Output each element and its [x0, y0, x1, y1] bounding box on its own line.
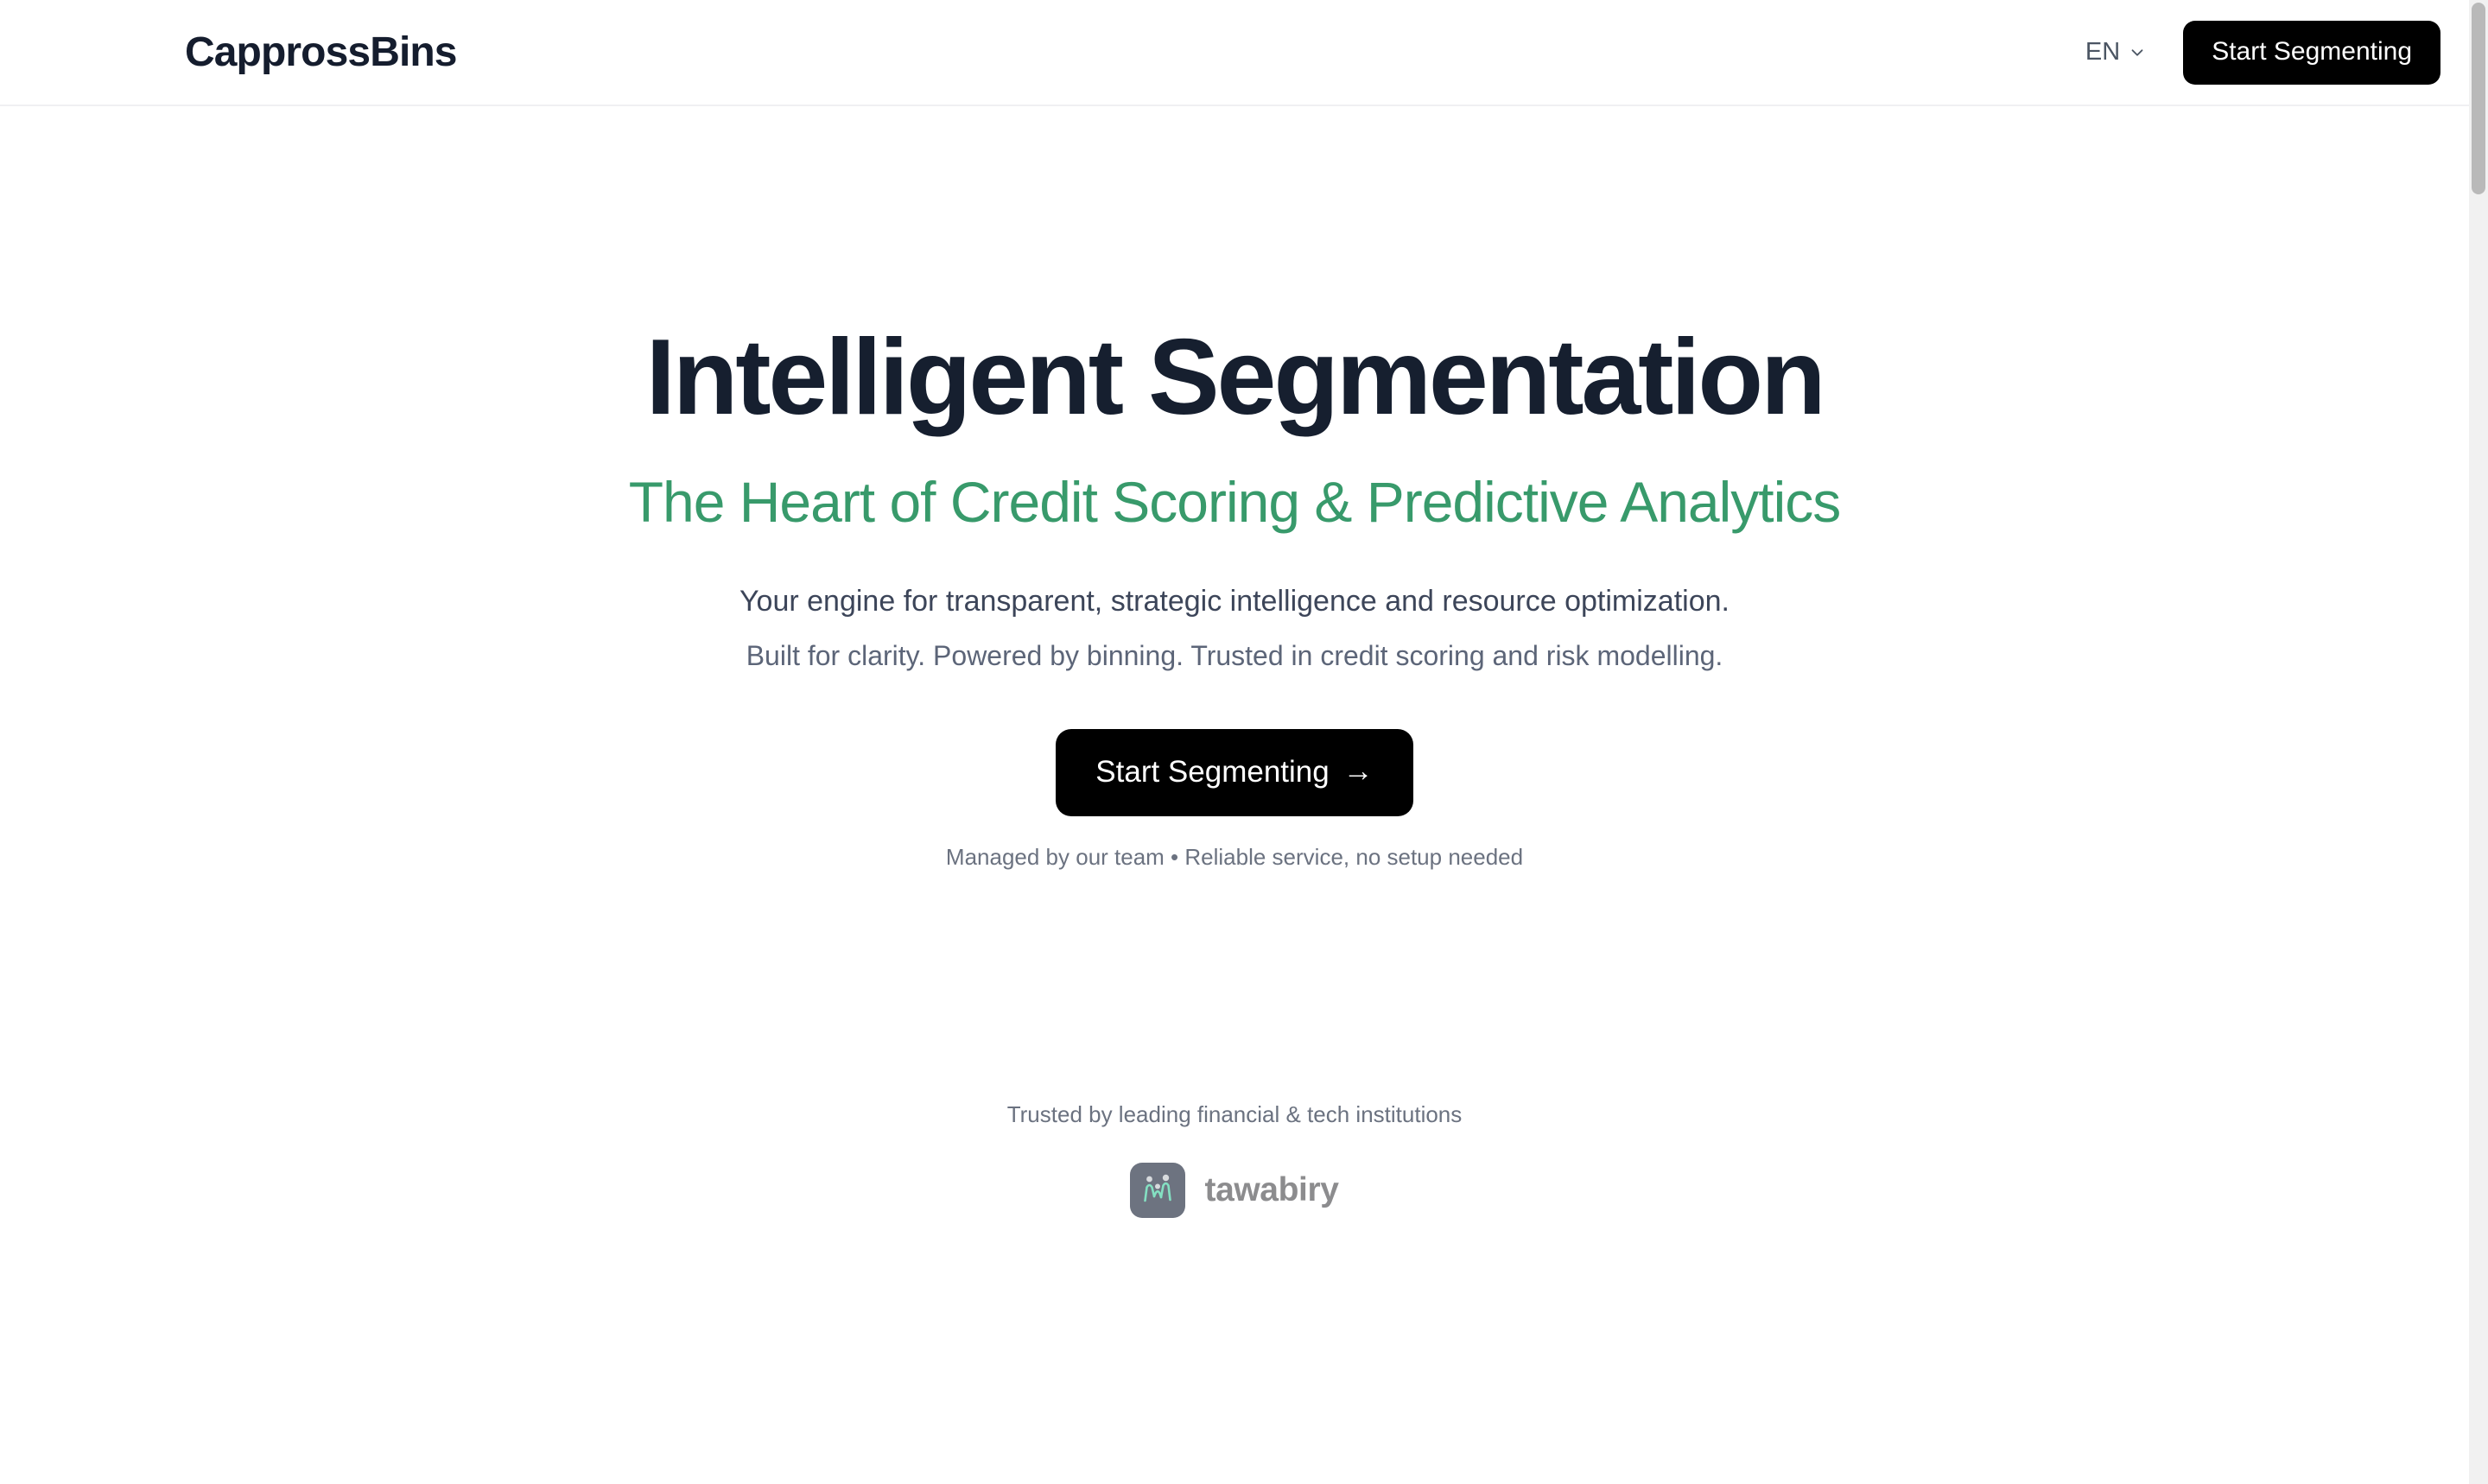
header-actions: EN Start Segmenting [2084, 21, 2440, 85]
arrow-right-icon: → [1343, 756, 1374, 786]
hero-secondary-text: Built for clarity. Powered by binning. T… [0, 622, 2469, 675]
trust-label: Trusted by leading financial & tech inst… [0, 1100, 2469, 1130]
tawabiry-people-icon [1130, 1163, 1185, 1218]
site-header: CapprossBins EN Start Segmenting [0, 0, 2469, 106]
chevron-down-icon [2128, 43, 2147, 62]
hero-title: Intelligent Segmentation [0, 106, 2469, 434]
hero-cta-note: Managed by our team • Reliable service, … [0, 816, 2469, 872]
hero-cta-label: Start Segmenting [1095, 757, 1329, 787]
vertical-scrollbar-thumb[interactable] [2472, 3, 2485, 194]
trust-section: Trusted by leading financial & tech inst… [0, 872, 2469, 1218]
partner-logo-list: tawabiry [0, 1130, 2469, 1218]
hero-cta-wrapper: Start Segmenting → [0, 675, 2469, 816]
header-start-segmenting-button[interactable]: Start Segmenting [2183, 21, 2440, 85]
brand-logo[interactable]: CapprossBins [185, 32, 457, 73]
partner-name-label: tawabiry [1204, 1173, 1338, 1207]
partner-logo-tawabiry[interactable]: tawabiry [1130, 1163, 1338, 1218]
hero-lead-text: Your engine for transparent, strategic i… [0, 536, 2469, 622]
hero-subtitle: The Heart of Credit Scoring & Predictive… [0, 434, 2469, 536]
language-selector-label: EN [2085, 40, 2120, 65]
hero-start-segmenting-button[interactable]: Start Segmenting → [1056, 729, 1412, 816]
landing-page: CapprossBins EN Start Segmenting Intelli… [0, 0, 2488, 1484]
hero-section: Intelligent Segmentation The Heart of Cr… [0, 106, 2469, 1218]
language-selector[interactable]: EN [2084, 35, 2148, 70]
vertical-scrollbar-track[interactable] [2469, 0, 2488, 1484]
